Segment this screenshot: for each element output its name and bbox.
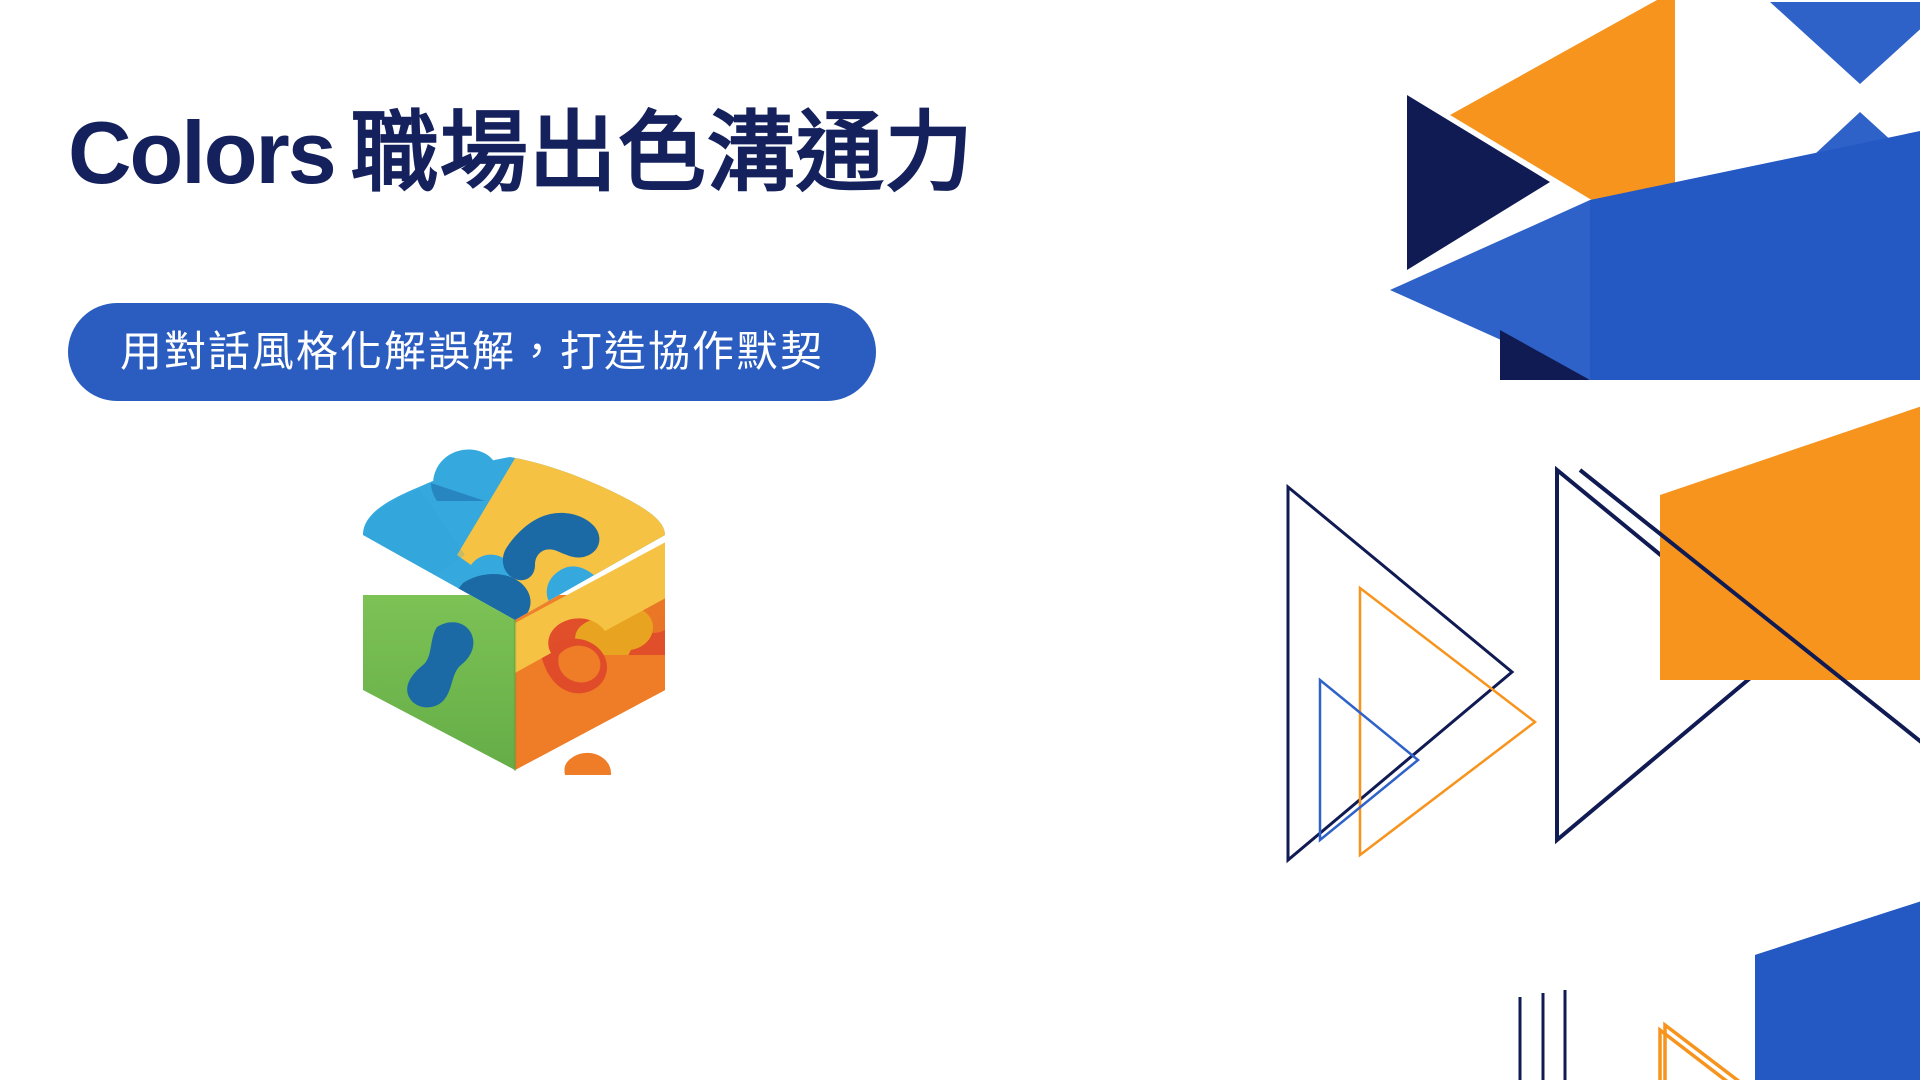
blue-bowtie-top [1770,2,1920,84]
navy-diagonal-line [1580,470,1920,745]
page-title: Colors職場出色溝通力 [68,105,974,200]
navy-solid-triangle [1407,95,1550,270]
blue-tall-shape-b [1755,900,1920,1080]
navy-outline-triangle-large [1288,487,1512,860]
orange-solid-wedge [1660,405,1920,680]
page-title-latin: Colors [68,103,335,202]
puzzle-left-face [345,595,525,775]
orange-solid-triangle [1450,0,1675,250]
blue-bottom-slab [1775,905,1920,1080]
blue-bowtie-bottom [1770,112,1920,196]
navy-small-triangle [1500,330,1590,380]
puzzle-cube-illustration [345,405,685,775]
orange-outline-triangle-front [1665,1025,1845,1080]
blue-solid-triangle-mid [1390,200,1590,380]
blue-large-wedge [1590,130,1920,380]
puzzle-bottom-knob [564,753,611,775]
geometric-decoration [1120,0,1920,1080]
subtitle-pill: 用對話風格化解誤解，打造協作默契 [68,303,876,401]
banner-root: Colors職場出色溝通力 用對話風格化解誤解，打造協作默契 [0,0,1920,1080]
geometric-decoration-overlay [1120,0,1920,1080]
subtitle-text: 用對話風格化解誤解，打造協作默契 [120,331,824,373]
orange-outline-triangle-bottom [1660,1030,1840,1080]
page-title-cjk: 職場出色溝通力 [351,103,974,202]
orange-outline-triangle [1360,588,1535,855]
navy-outline-triangle-right [1557,470,1780,840]
blue-outline-triangle [1320,680,1418,840]
content-column: Colors職場出色溝通力 用對話風格化解誤解，打造協作默契 [0,0,1150,1080]
blue-tall-shape [1755,900,1920,1080]
